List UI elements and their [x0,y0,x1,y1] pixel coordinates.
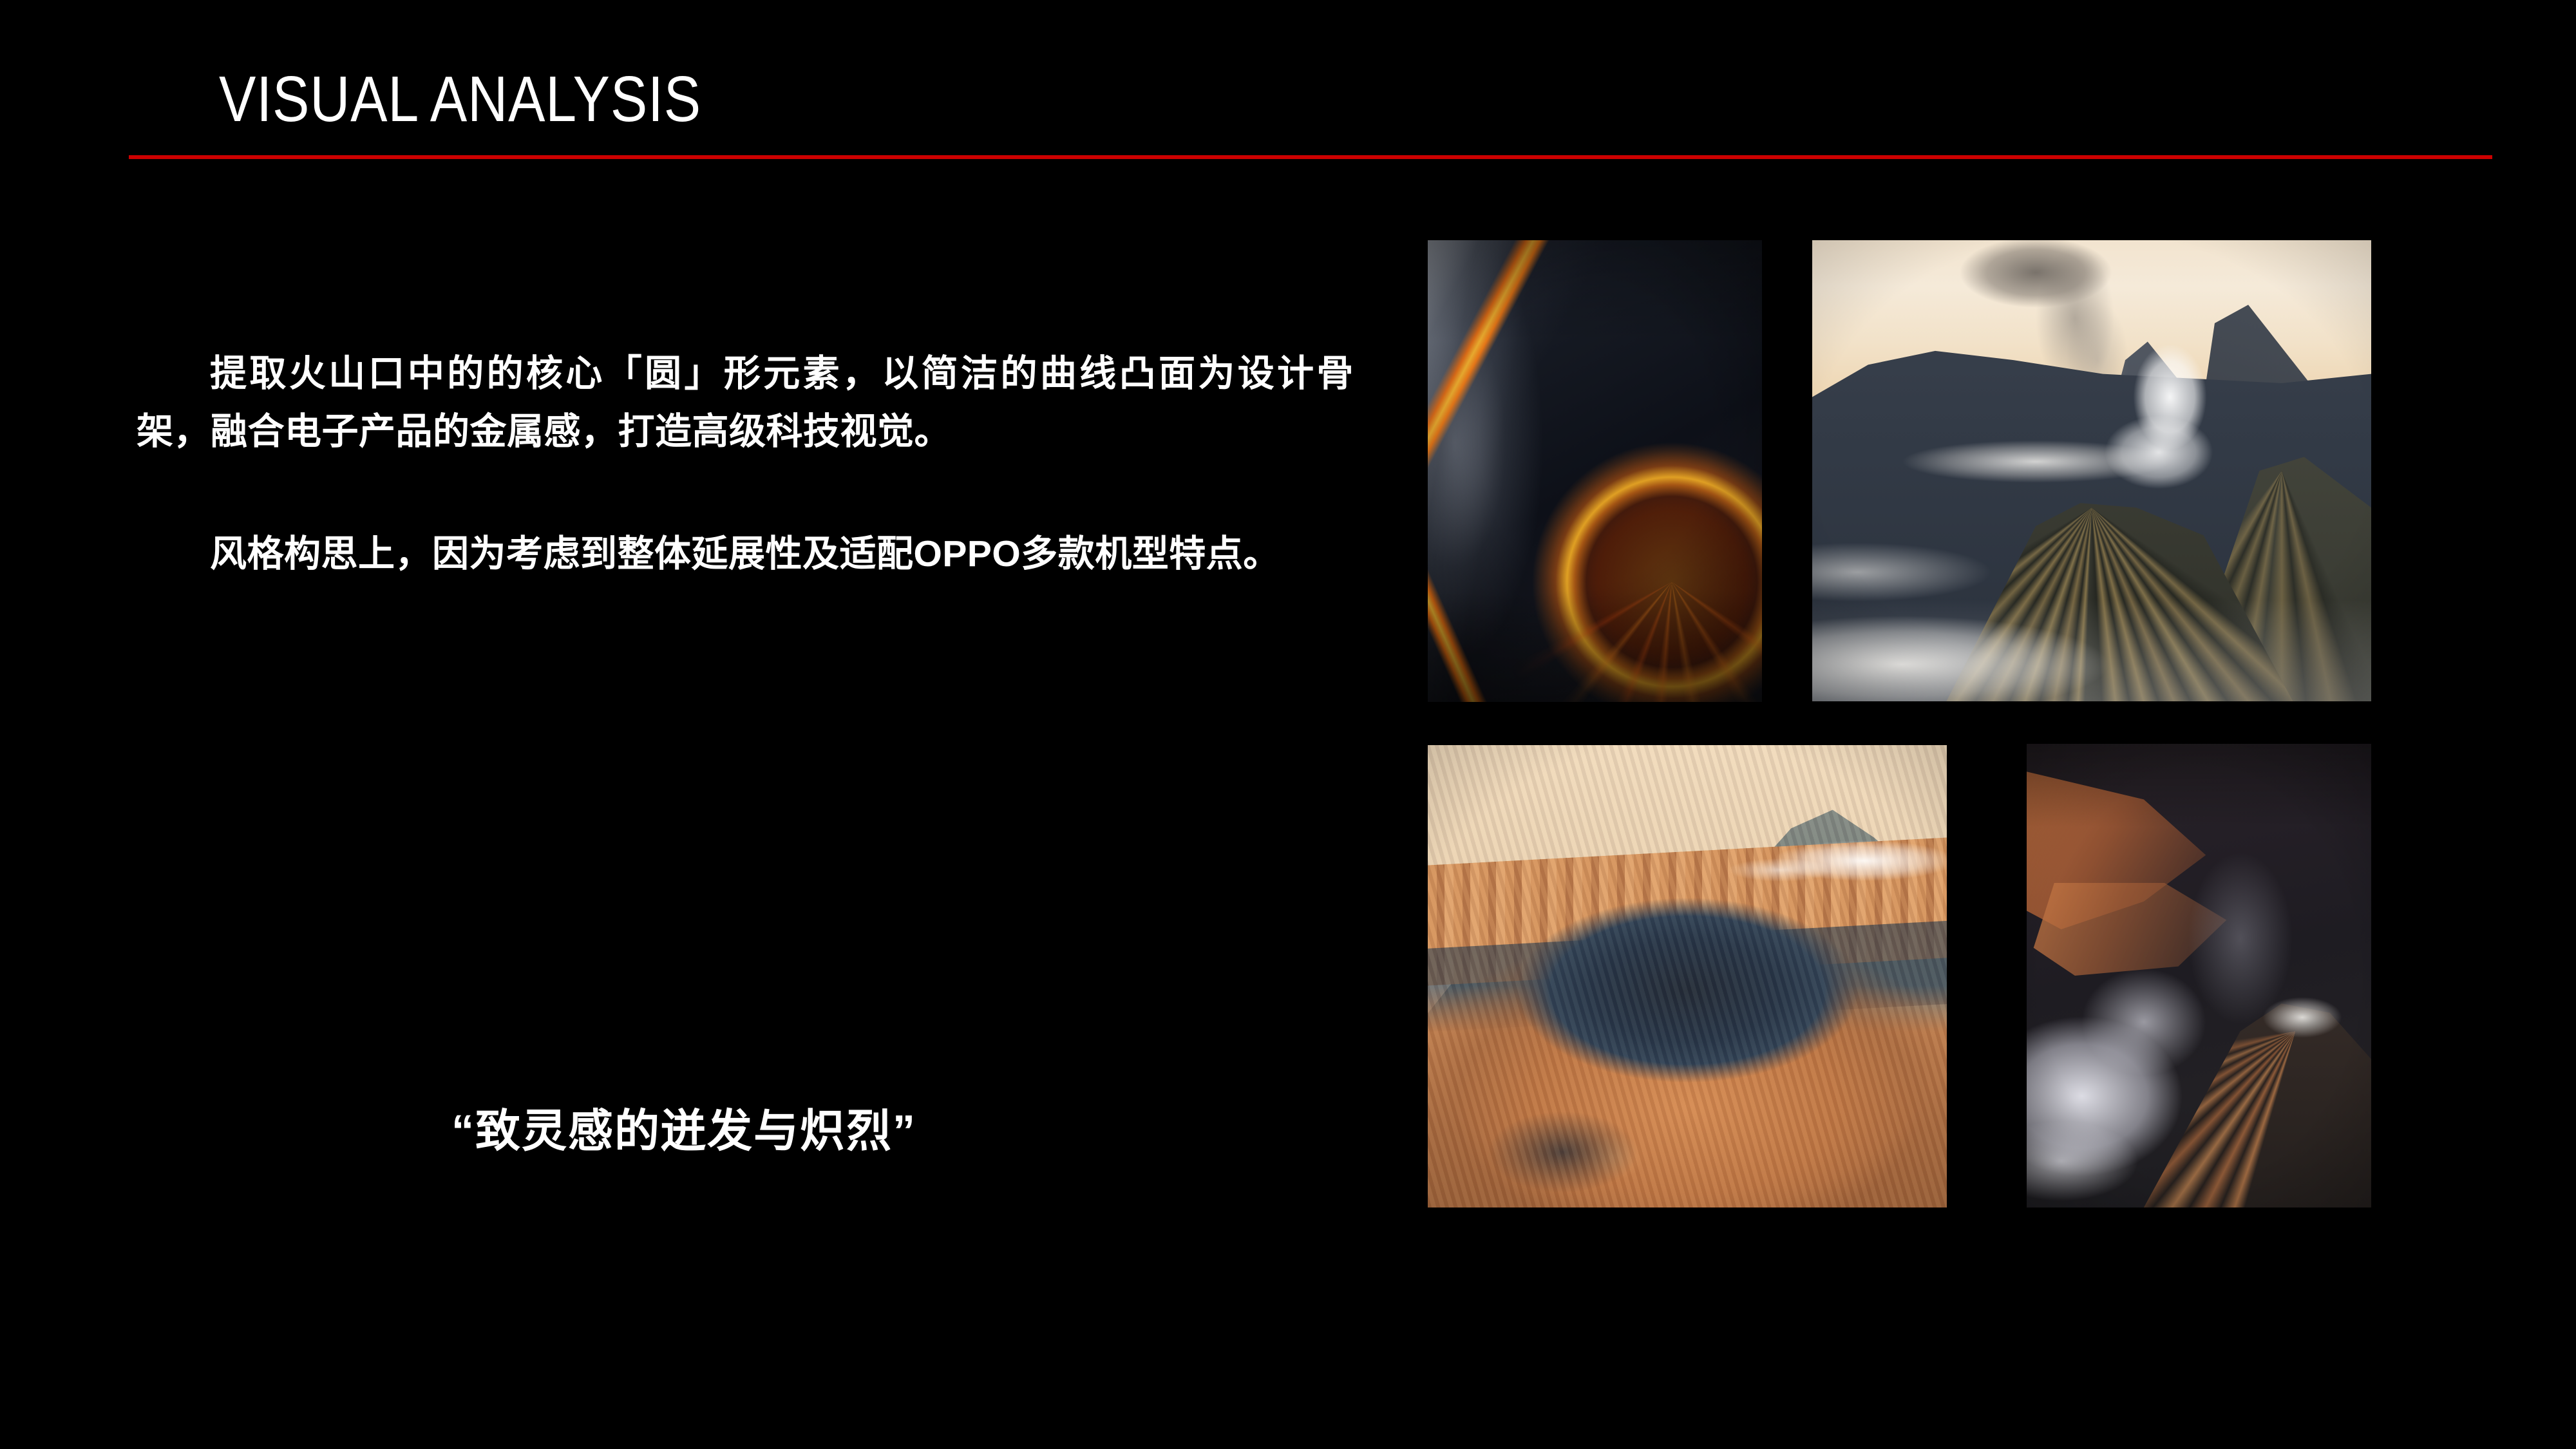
canyon-vignette [1428,745,1947,1207]
bromo-vignette [1812,240,2371,701]
lava-crater-vignette [1428,240,1762,702]
paragraph-style: 风格构思上，因为考虑到整体延展性及适配OPPO多款机型特点。 [137,525,1354,583]
tagline-quote: “致灵感的迸发与炽烈” [137,1095,1231,1160]
image-bromo-landscape [1812,240,2371,701]
title-underline-rule [129,155,2492,159]
paragraph-concept: 提取火山口中的的核心「圆」形元素，以简洁的曲线凸面为设计骨架，融合电子产品的金属… [137,345,1354,460]
page-title: VISUAL ANALYSIS [219,67,701,131]
image-aerial-volcano [2027,744,2371,1207]
image-canyon-lake [1428,745,1947,1207]
aerial-vignette [2027,744,2371,1207]
body-copy: 提取火山口中的的核心「圆」形元素，以简洁的曲线凸面为设计骨架，融合电子产品的金属… [137,345,1354,583]
image-lava-crater [1428,240,1762,702]
